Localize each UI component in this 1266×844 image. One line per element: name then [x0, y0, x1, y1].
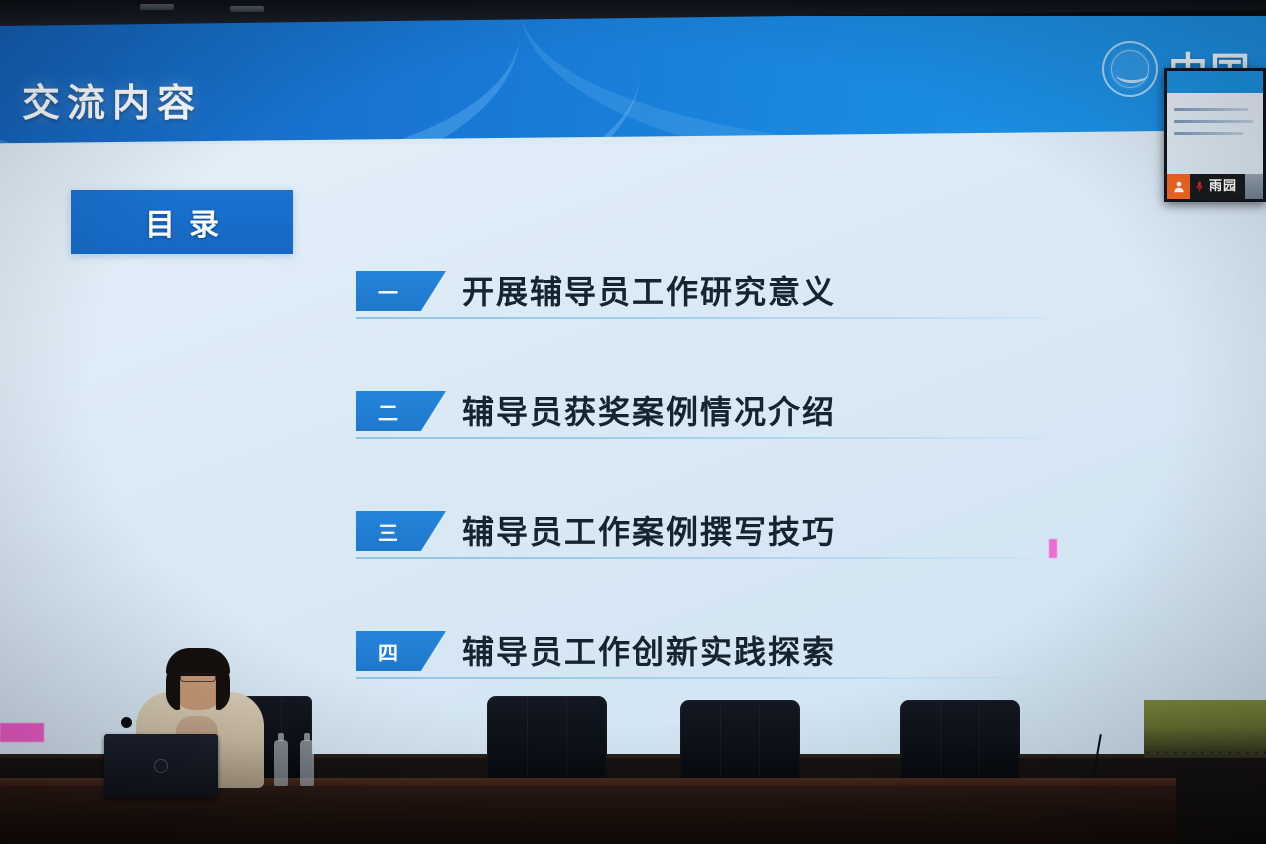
- water-bottle: [300, 740, 314, 786]
- ceiling-light-icon: [140, 4, 174, 10]
- presenter-hair-top: [166, 648, 230, 676]
- list-item[interactable]: 二 辅导员获奖案例情况介绍: [356, 391, 1056, 511]
- toc-item-number: 二: [378, 397, 399, 426]
- toc-item-underline: [356, 437, 1046, 439]
- toc-item-number-tag: 二: [356, 391, 446, 431]
- presenter-glasses: [180, 673, 216, 682]
- pip-text-line: [1174, 108, 1248, 111]
- toc-item-underline: [356, 677, 1046, 679]
- person-avatar-icon: [1167, 174, 1190, 199]
- toc-item-number-tag: 三: [356, 511, 446, 551]
- laptop: [104, 734, 218, 798]
- toc-heading-label: 目录: [131, 200, 233, 244]
- projector-pink-artifact-left: [0, 723, 44, 742]
- toc-item-label: 开展辅导员工作研究意义: [462, 267, 836, 313]
- pip-shared-slide-banner: [1167, 71, 1263, 93]
- toc-item-number-tag: 四: [356, 631, 446, 671]
- university-seal-icon: [1102, 41, 1158, 97]
- pip-shared-slide-content: [1167, 93, 1263, 175]
- microphone-icon: [1193, 180, 1206, 193]
- banner-title: 交流内容: [22, 72, 202, 127]
- pip-text-line: [1174, 132, 1243, 135]
- toc-item-number: 四: [378, 637, 399, 666]
- list-item[interactable]: 三 辅导员工作案例撰写技巧: [356, 511, 1056, 631]
- toc-item-number-tag: 一: [356, 271, 446, 311]
- ceiling-light-icon: [230, 6, 264, 12]
- toc-item-underline: [356, 557, 1046, 559]
- toc-item-label: 辅导员工作创新实践探索: [462, 627, 836, 673]
- toc-item-label: 辅导员获奖案例情况介绍: [462, 387, 836, 433]
- microphone-icon: [121, 717, 132, 728]
- toc-item-label: 辅导员工作案例撰写技巧: [462, 507, 836, 553]
- laptop-logo-icon: [154, 759, 168, 773]
- conference-chair: [487, 696, 607, 788]
- pip-secondary-thumbnail: [1245, 174, 1263, 199]
- projector-pink-artifact: [1049, 539, 1057, 558]
- toc-item-underline: [356, 317, 1046, 319]
- list-item[interactable]: 一 开展辅导员工作研究意义: [356, 271, 1056, 391]
- projection-room-scene: 交流内容 中国 目录 一 开展辅导员工作研究意义: [0, 0, 1266, 844]
- toc-item-number: 一: [378, 277, 399, 306]
- toc-list: 一 开展辅导员工作研究意义 二 辅导员获奖案例情况介绍 三 辅: [356, 271, 1056, 751]
- pip-text-line: [1174, 120, 1253, 123]
- video-conference-pip-window[interactable]: 雨园: [1164, 68, 1266, 202]
- pip-participant-name: 雨园: [1209, 180, 1237, 193]
- slide-banner: 交流内容 中国: [0, 16, 1266, 144]
- conference-chair: [900, 700, 1020, 788]
- conference-chair: [680, 700, 800, 788]
- toc-heading-box: 目录: [71, 190, 293, 254]
- toc-item-number: 三: [378, 517, 399, 546]
- water-bottle: [274, 740, 288, 786]
- pip-participant-bar: 雨园: [1167, 174, 1263, 199]
